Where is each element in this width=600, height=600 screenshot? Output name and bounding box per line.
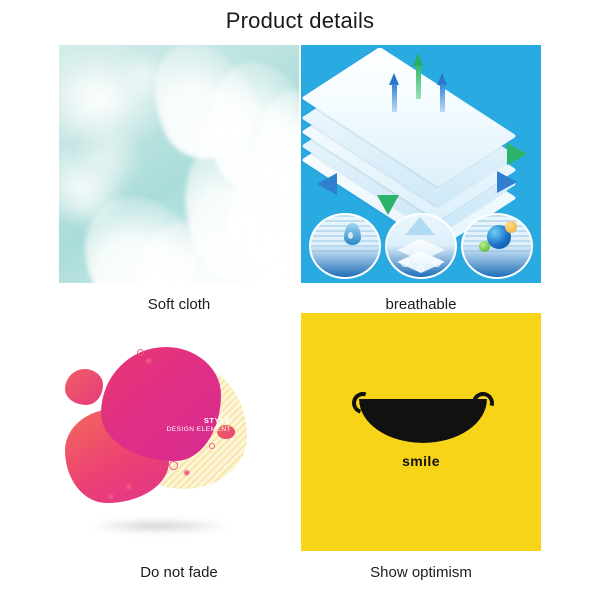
gallery-item-caption: breathable bbox=[301, 283, 541, 313]
deco-sparkle-icon: ✺ bbox=[125, 483, 133, 492]
deco-circle-icon bbox=[137, 349, 144, 356]
breathable-image[interactable] bbox=[301, 45, 541, 283]
inset-antibacterial[interactable] bbox=[461, 213, 533, 279]
coral-dot-icon bbox=[217, 425, 235, 439]
bubble-icon bbox=[417, 265, 424, 272]
airflow-arrow-down-icon bbox=[377, 195, 399, 215]
water-droplet-icon bbox=[344, 223, 361, 245]
product-gallery-grid: Soft cloth bbox=[0, 45, 600, 600]
gallery-item-caption: Soft cloth bbox=[59, 283, 299, 313]
gallery-item-do-not-fade[interactable]: STYLE DESIGN ELEMENT ✺ ✺ ✺ ✺ Do not fade bbox=[59, 313, 299, 581]
gallery-item-breathable[interactable]: breathable bbox=[301, 45, 541, 313]
deco-sparkle-icon: ✺ bbox=[107, 493, 115, 502]
airflow-arrow-right-icon bbox=[507, 143, 527, 165]
coral-blob-icon bbox=[65, 369, 103, 405]
inset-water-repellent[interactable] bbox=[309, 213, 381, 279]
bubble-icon bbox=[401, 259, 409, 267]
gallery-item-show-optimism[interactable]: smile Show optimism bbox=[301, 313, 541, 581]
smile-icon bbox=[353, 399, 493, 449]
gallery-item-caption: Show optimism bbox=[301, 551, 541, 581]
germ-sun-icon bbox=[505, 221, 517, 233]
vapor-peak-icon bbox=[405, 217, 435, 235]
show-optimism-image[interactable]: smile bbox=[301, 313, 541, 551]
bubble-icon bbox=[433, 259, 441, 267]
page-title: Product details bbox=[0, 8, 600, 34]
magenta-blob-icon bbox=[101, 347, 221, 461]
feature-inset-row bbox=[309, 213, 533, 277]
fabric-layer-stack-icon bbox=[329, 63, 515, 213]
deco-sparkle-icon: ✺ bbox=[183, 469, 191, 478]
deco-circle-icon bbox=[209, 443, 215, 449]
deco-sparkle-icon: ✺ bbox=[145, 357, 153, 366]
germ-dot-icon bbox=[479, 241, 490, 252]
soft-cloth-image[interactable] bbox=[59, 45, 299, 283]
do-not-fade-image[interactable]: STYLE DESIGN ELEMENT ✺ ✺ ✺ ✺ bbox=[59, 313, 299, 551]
artwork-shadow bbox=[89, 519, 229, 533]
airflow-arrow-left-icon bbox=[317, 173, 337, 195]
deco-circle-icon bbox=[169, 461, 178, 470]
airflow-arrow-right-icon bbox=[497, 171, 517, 193]
gallery-item-caption: Do not fade bbox=[59, 551, 299, 581]
gallery-item-soft-cloth[interactable]: Soft cloth bbox=[59, 45, 299, 313]
product-details-page: Product details Soft cloth bbox=[0, 0, 600, 600]
artwork-text-line1: smile bbox=[301, 453, 541, 469]
smile-curve bbox=[359, 399, 487, 443]
inset-layered-absorb[interactable] bbox=[385, 213, 457, 279]
